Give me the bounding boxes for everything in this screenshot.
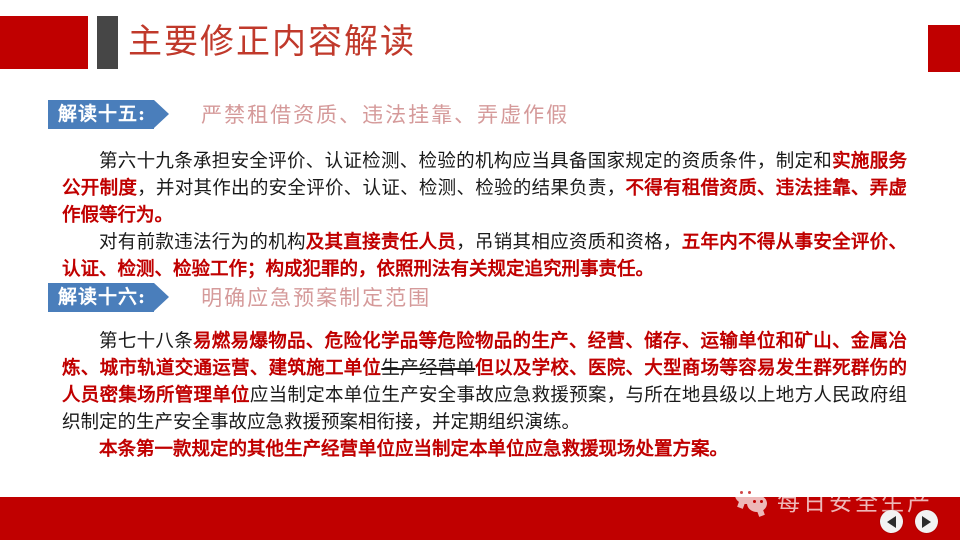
text-run: 第七十八条 bbox=[99, 331, 193, 352]
emphasis-text-run: 本条第一款规定的其他生产经营单位应当制定本单位应急救援现场处置方案。 bbox=[99, 439, 728, 460]
struck-text-run: 生产经营单 bbox=[381, 358, 475, 379]
header-red-block-right bbox=[928, 25, 960, 72]
arrow-right-icon[interactable] bbox=[915, 510, 938, 533]
slide-nav[interactable] bbox=[880, 510, 938, 533]
section-tag-15: 解读十五: bbox=[48, 100, 154, 129]
section-subject-15: 严禁租借资质、违法挂靠、弄虚作假 bbox=[201, 100, 569, 129]
header-red-block-left bbox=[0, 16, 88, 69]
section-body-15: 第六十九条承担安全评价、认证检测、检验的机构应当具备国家规定的资质条件，制定和实… bbox=[62, 148, 907, 283]
text-run: 对有前款违法行为的机构 bbox=[99, 232, 306, 253]
page-title: 主要修正内容解读 bbox=[128, 18, 416, 66]
section-subject-16: 明确应急预案制定范围 bbox=[201, 283, 431, 312]
paragraph: 对有前款违法行为的机构及其直接责任人员，吊销其相应资质和资格，五年内不得从事安全… bbox=[62, 229, 907, 283]
section-banner-16: 解读十六: 明确应急预案制定范围 bbox=[48, 283, 431, 312]
footer-bar bbox=[0, 497, 960, 540]
header-gray-bar bbox=[97, 16, 118, 69]
arrow-left-icon[interactable] bbox=[880, 510, 903, 533]
text-run: ，并对其作出的安全评价、认证、检测、检验的结果负责， bbox=[137, 178, 625, 199]
paragraph: 本条第一款规定的其他生产经营单位应当制定本单位应急救援现场处置方案。 bbox=[62, 436, 907, 463]
slide-canvas: 主要修正内容解读 解读十五: 严禁租借资质、违法挂靠、弄虚作假 第六十九条承担安… bbox=[0, 0, 960, 540]
text-run: 第六十九条承担安全评价、认证检测、检验的机构应当具备国家规定的资质条件，制定和 bbox=[99, 151, 832, 172]
section-banner-15: 解读十五: 严禁租借资质、违法挂靠、弄虚作假 bbox=[48, 100, 569, 129]
section-body-16: 第七十八条易燃易爆物品、危险化学品等危险物品的生产、经营、储存、运输单位和矿山、… bbox=[62, 328, 907, 463]
text-run: ，吊销其相应资质和资格， bbox=[456, 232, 682, 253]
section-tag-16: 解读十六: bbox=[48, 283, 154, 312]
emphasis-text-run: 及其直接责任人员 bbox=[306, 232, 456, 253]
paragraph: 第六十九条承担安全评价、认证检测、检验的机构应当具备国家规定的资质条件，制定和实… bbox=[62, 148, 907, 229]
paragraph: 第七十八条易燃易爆物品、危险化学品等危险物品的生产、经营、储存、运输单位和矿山、… bbox=[62, 328, 907, 436]
